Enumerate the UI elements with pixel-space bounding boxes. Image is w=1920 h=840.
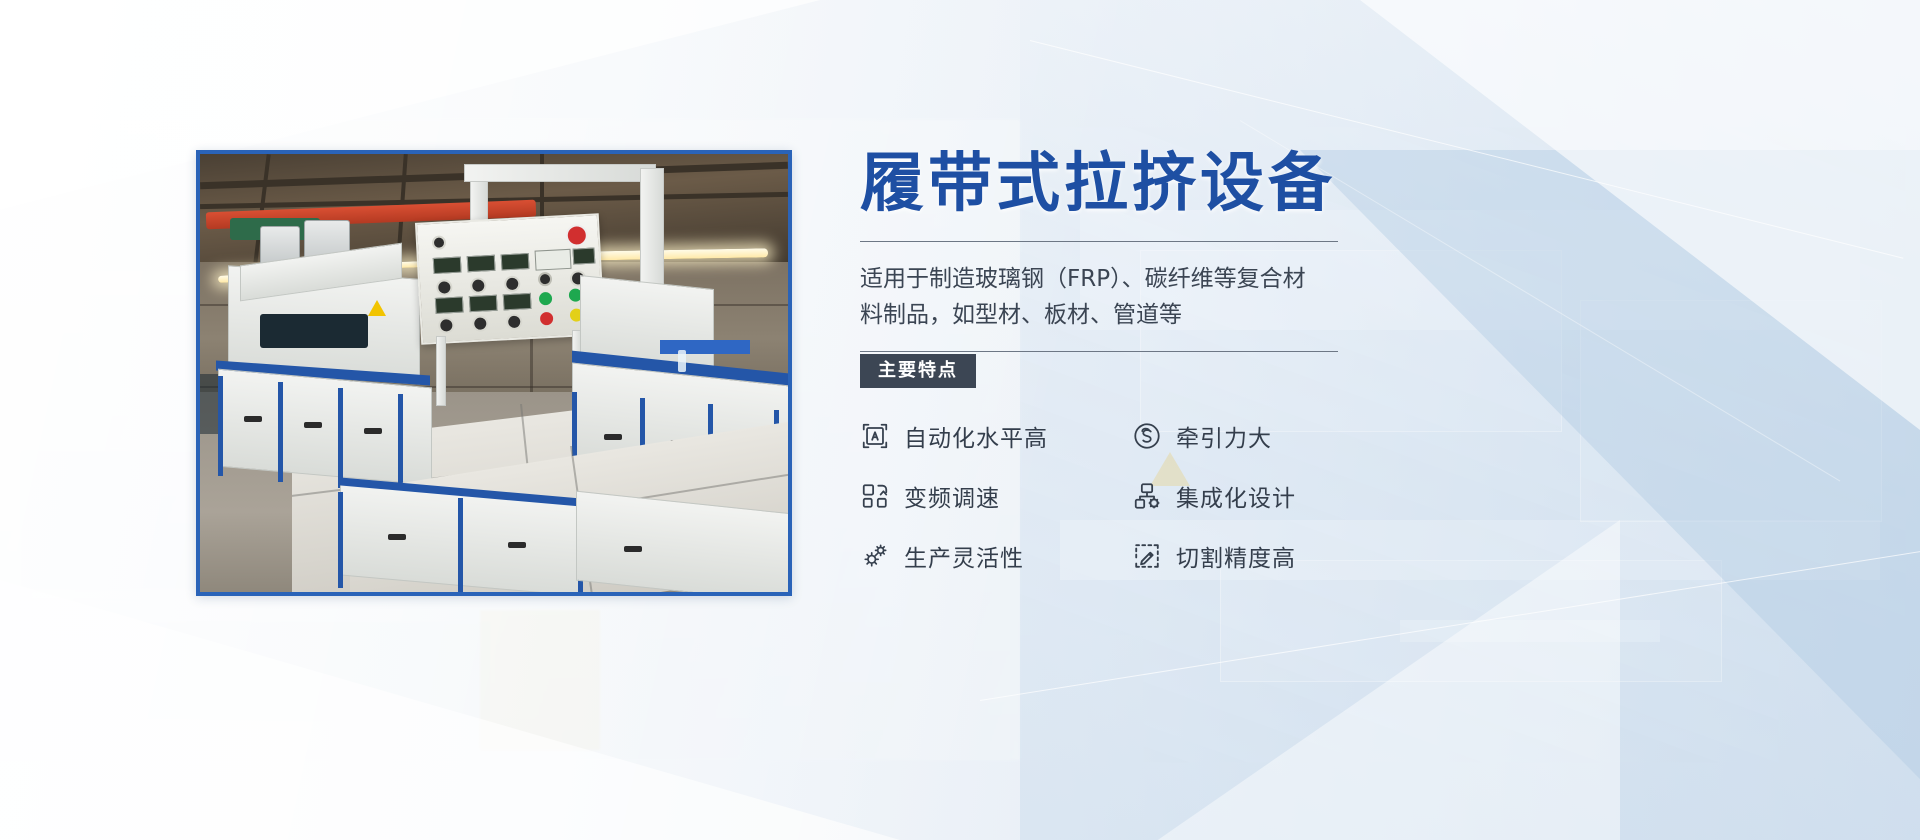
product-photo-image [200,154,788,592]
automation-a-frame-icon [860,421,890,451]
feature-label: 生产灵活性 [904,539,1024,573]
feature-item-traction: 牵引力大 [1132,419,1404,453]
banner-content: 履带式拉挤设备 适用于制造玻璃钢（FRP）、碳纤维等复合材 料制品，如型材、板材… [860,150,1860,573]
feature-item-cutting-precision: 切割精度高 [1132,539,1404,573]
feature-item-automation: 自动化水平高 [860,419,1132,453]
description-line-1: 适用于制造玻璃钢（FRP）、碳纤维等复合材 [860,266,1306,292]
feature-list: 自动化水平高 牵引力大 [860,419,1420,573]
traction-circle-icon [1132,421,1162,451]
feature-item-production-flexibility: 生产灵活性 [860,539,1132,573]
product-banner: 履带式拉挤设备 适用于制造玻璃钢（FRP）、碳纤维等复合材 料制品，如型材、板材… [0,0,1920,840]
frequency-speed-icon [860,481,890,511]
product-description: 适用于制造玻璃钢（FRP）、碳纤维等复合材 料制品，如型材、板材、管道等 [860,262,1350,333]
integrated-design-icon [1132,481,1162,511]
title-divider [860,241,1338,242]
feature-label: 集成化设计 [1176,479,1296,513]
description-line-2: 料制品，如型材、板材、管道等 [860,302,1182,328]
page-title: 履带式拉挤设备 [860,150,1860,219]
feature-item-frequency: 变频调速 [860,479,1132,513]
feature-label: 切割精度高 [1176,539,1296,573]
features-divider [860,351,1338,352]
feature-label: 变频调速 [904,479,1000,513]
feature-item-integrated-design: 集成化设计 [1132,479,1404,513]
features-header: 主要特点 [860,351,1338,385]
product-photo [196,150,792,596]
status-badge: 主要特点 [860,354,976,388]
feature-label: 牵引力大 [1176,419,1272,453]
precision-cut-pen-icon [1132,541,1162,571]
feature-label: 自动化水平高 [904,419,1048,453]
gears-icon [860,541,890,571]
bg-wedge-bottom-left [0,580,900,840]
